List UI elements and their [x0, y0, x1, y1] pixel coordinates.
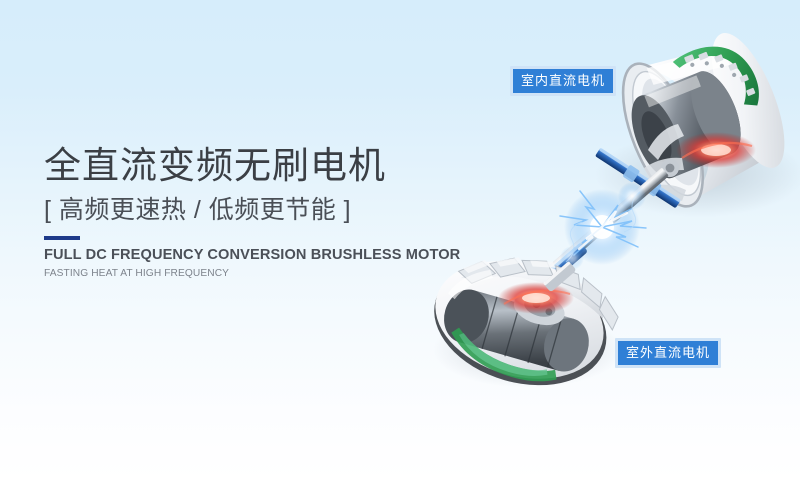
headline-block: 全直流变频无刷电机 [ 高频更速热 / 低频更节能 ] FULL DC FREQ…: [44, 144, 474, 280]
outdoor-motor-windings: [444, 326, 563, 389]
accent-divider: [44, 236, 80, 240]
product-feature-banner: 全直流变频无刷电机 [ 高频更速热 / 低频更节能 ] FULL DC FREQ…: [0, 0, 800, 481]
indoor-motor-blue-shaft: [594, 146, 682, 210]
page-subtitle-en: FASTING HEAT AT HIGH FREQUENCY: [44, 267, 474, 280]
indoor-motor-vanes: [644, 124, 686, 201]
callout-outdoor-motor: 室外直流电机: [615, 338, 721, 368]
callout-indoor-motor-label: 室内直流电机: [513, 69, 613, 93]
electric-spark-effect: [560, 182, 646, 270]
motor-drive-shaft: [523, 167, 669, 296]
outdoor-motor-shaft-stub: [543, 261, 577, 292]
indoor-motor-pcb: [672, 33, 766, 129]
indoor-motor-heat-glow: [676, 132, 756, 168]
outdoor-motor-stator: [438, 283, 596, 378]
drive-shaft-blue-segment: [530, 242, 588, 294]
page-subtitle-cn: [ 高频更速热 / 低频更节能 ]: [44, 194, 474, 226]
callout-outdoor-motor-label: 室外直流电机: [618, 341, 718, 365]
outdoor-motor-heat-glow: [498, 282, 574, 314]
outdoor-motor-fins: [455, 238, 628, 331]
page-title-en: FULL DC FREQUENCY CONVERSION BRUSHLESS M…: [44, 247, 474, 264]
page-title: 全直流变频无刷电机: [44, 144, 474, 188]
indoor-dc-motor-illustration: [594, 20, 800, 216]
callout-indoor-motor: 室内直流电机: [510, 66, 616, 96]
indoor-motor-rotor: [621, 64, 750, 185]
